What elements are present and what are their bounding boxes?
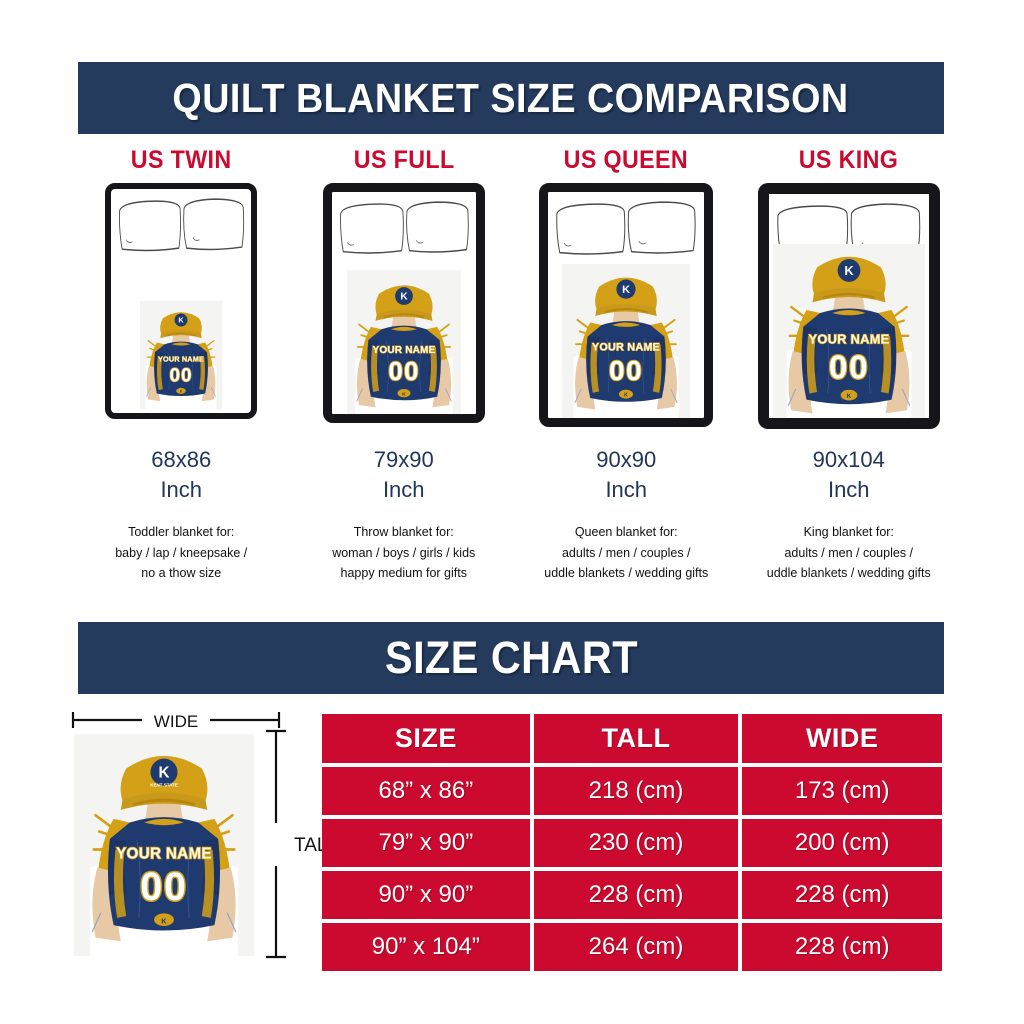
bed-frame: K YOUR NAME 00 K [105, 183, 257, 419]
svg-text:K: K [400, 292, 408, 303]
jersey-number-text: 00 [170, 365, 193, 386]
size-dimensions-unit: Inch [813, 475, 885, 505]
svg-text:K: K [624, 393, 628, 399]
jersey-illustration: K YOUR NAME 00 K [140, 301, 222, 409]
size-dimensions-unit: Inch [151, 475, 211, 505]
size-dimensions-value: 90x104 [813, 445, 885, 475]
table-header-row: SIZETALLWIDE [322, 714, 942, 763]
size-column-us-king: US KING K YOUR NAME 00 K [738, 146, 961, 606]
pillows-sketch [554, 199, 698, 260]
blanket-artwork: K YOUR NAME 00 K [562, 264, 690, 418]
bed-illustration-wrap: K YOUR NAME 00 K [70, 183, 293, 431]
pillows [117, 196, 246, 256]
blanket-artwork: K YOUR NAME 00 K [140, 301, 222, 409]
bed-illustration-wrap: K YOUR NAME 00 K [515, 183, 738, 431]
size-dimensions: 68x86 Inch [151, 445, 211, 504]
table-cell-tall: 230 (cm) [534, 819, 739, 867]
blanket-artwork: K YOUR NAME 00 K [773, 244, 925, 420]
svg-text:K: K [402, 392, 406, 398]
pillows [554, 199, 698, 260]
table-body: 68” x 86”218 (cm)173 (cm)79” x 90”230 (c… [322, 767, 942, 971]
size-dimensions-unit: Inch [374, 475, 434, 505]
size-column-title: US FULL [353, 146, 454, 175]
table-cell-tall: 264 (cm) [534, 923, 739, 971]
blanket-artwork: K YOUR NAME 00 K [347, 270, 461, 418]
table-header-wide: WIDE [742, 714, 942, 763]
size-column-title: US KING [799, 146, 898, 175]
table-row: 79” x 90”230 (cm)200 (cm) [322, 819, 942, 867]
table-cell-wide: 228 (cm) [742, 871, 942, 919]
svg-text:KENT STATE: KENT STATE [150, 783, 178, 788]
jersey-illustration: K YOUR NAME 00 K [347, 270, 461, 418]
size-dimensions-value: 79x90 [374, 445, 434, 475]
jersey-number-text: 00 [140, 865, 188, 909]
size-dimensions-value: 68x86 [151, 445, 211, 475]
jersey-name-text: YOUR NAME [372, 345, 435, 356]
jersey-name-text: YOUR NAME [808, 331, 889, 346]
table-cell-size: 79” x 90” [322, 819, 530, 867]
pillows-sketch [338, 199, 470, 259]
table-cell-wide: 173 (cm) [742, 767, 942, 815]
jersey-name-text: YOUR NAME [158, 354, 204, 363]
svg-text:K: K [158, 765, 169, 782]
jersey-illustration: K KENT STATE YOUR NAME 00 K [74, 734, 254, 956]
jersey-illustration: K YOUR NAME 00 K [562, 264, 690, 418]
svg-text:K: K [847, 393, 852, 400]
size-column-us-twin: US TWIN K YOUR NAME 00 K [70, 146, 293, 606]
measurement-diagram: WIDE TALL K KENT STATE [62, 706, 312, 964]
blanket-artwork-large: K KENT STATE YOUR NAME 00 K [74, 734, 254, 956]
size-description: Throw blanket for: woman / boys / girls … [332, 522, 475, 583]
size-chart-banner: SIZE CHART [78, 622, 944, 694]
svg-text:K: K [179, 316, 185, 325]
bed-illustration-wrap: K YOUR NAME 00 K [738, 183, 961, 431]
jersey-illustration: K YOUR NAME 00 K [773, 244, 925, 420]
size-column-title: US TWIN [131, 146, 232, 175]
page-title: QUILT BLANKET SIZE COMPARISON [173, 75, 849, 122]
table-cell-size: 90” x 104” [322, 923, 530, 971]
pillows-sketch [117, 196, 246, 256]
size-description: King blanket for: adults / men / couples… [767, 522, 931, 583]
pillows [338, 199, 470, 259]
size-description: Queen blanket for: adults / men / couple… [544, 522, 708, 583]
size-chart-table: SIZETALLWIDE 68” x 86”218 (cm)173 (cm)79… [318, 710, 946, 975]
table-cell-tall: 228 (cm) [534, 871, 739, 919]
jersey-name-text: YOUR NAME [592, 342, 660, 354]
main-title-banner: QUILT BLANKET SIZE COMPARISON [78, 62, 944, 134]
table-cell-size: 68” x 86” [322, 767, 530, 815]
size-dimensions: 90x104 Inch [813, 445, 885, 504]
jersey-number-text: 00 [829, 349, 869, 386]
jersey-number-text: 00 [388, 356, 419, 386]
size-column-title: US QUEEN [564, 146, 688, 175]
wide-label: WIDE [154, 712, 198, 731]
size-chart-title: SIZE CHART [385, 632, 638, 684]
table-cell-wide: 200 (cm) [742, 819, 942, 867]
table-header-tall: TALL [534, 714, 739, 763]
size-chart-section: WIDE TALL K KENT STATE [62, 706, 958, 968]
svg-text:K: K [161, 916, 167, 925]
size-dimensions-unit: Inch [596, 475, 656, 505]
jersey-name-text: YOUR NAME [116, 846, 212, 863]
table-header-size: SIZE [322, 714, 530, 763]
svg-text:K: K [844, 263, 854, 278]
bed-frame: K YOUR NAME 00 K [323, 183, 485, 423]
size-dimensions: 90x90 Inch [596, 445, 656, 504]
size-dimensions: 79x90 Inch [374, 445, 434, 504]
table-cell-wide: 228 (cm) [742, 923, 942, 971]
size-dimensions-value: 90x90 [596, 445, 656, 475]
bed-illustration-wrap: K YOUR NAME 00 K [293, 183, 516, 431]
table-row: 90” x 104”264 (cm)228 (cm) [322, 923, 942, 971]
bed-frame: K YOUR NAME 00 K [539, 183, 713, 427]
svg-text:K: K [622, 284, 630, 296]
table-cell-size: 90” x 90” [322, 871, 530, 919]
bed-frame: K YOUR NAME 00 K [758, 183, 940, 429]
wide-dimension-arrow: WIDE [70, 708, 282, 732]
size-description: Toddler blanket for: baby / lap / kneeps… [115, 522, 247, 583]
size-column-us-full: US FULL K YOUR NAME 00 K [293, 146, 516, 606]
size-comparison-row: US TWIN K YOUR NAME 00 K [70, 146, 960, 606]
size-column-us-queen: US QUEEN K YOUR NAME 00 K [515, 146, 738, 606]
table-row: 90” x 90”228 (cm)228 (cm) [322, 871, 942, 919]
jersey-number-text: 00 [609, 355, 643, 386]
table-row: 68” x 86”218 (cm)173 (cm) [322, 767, 942, 815]
table-cell-tall: 218 (cm) [534, 767, 739, 815]
